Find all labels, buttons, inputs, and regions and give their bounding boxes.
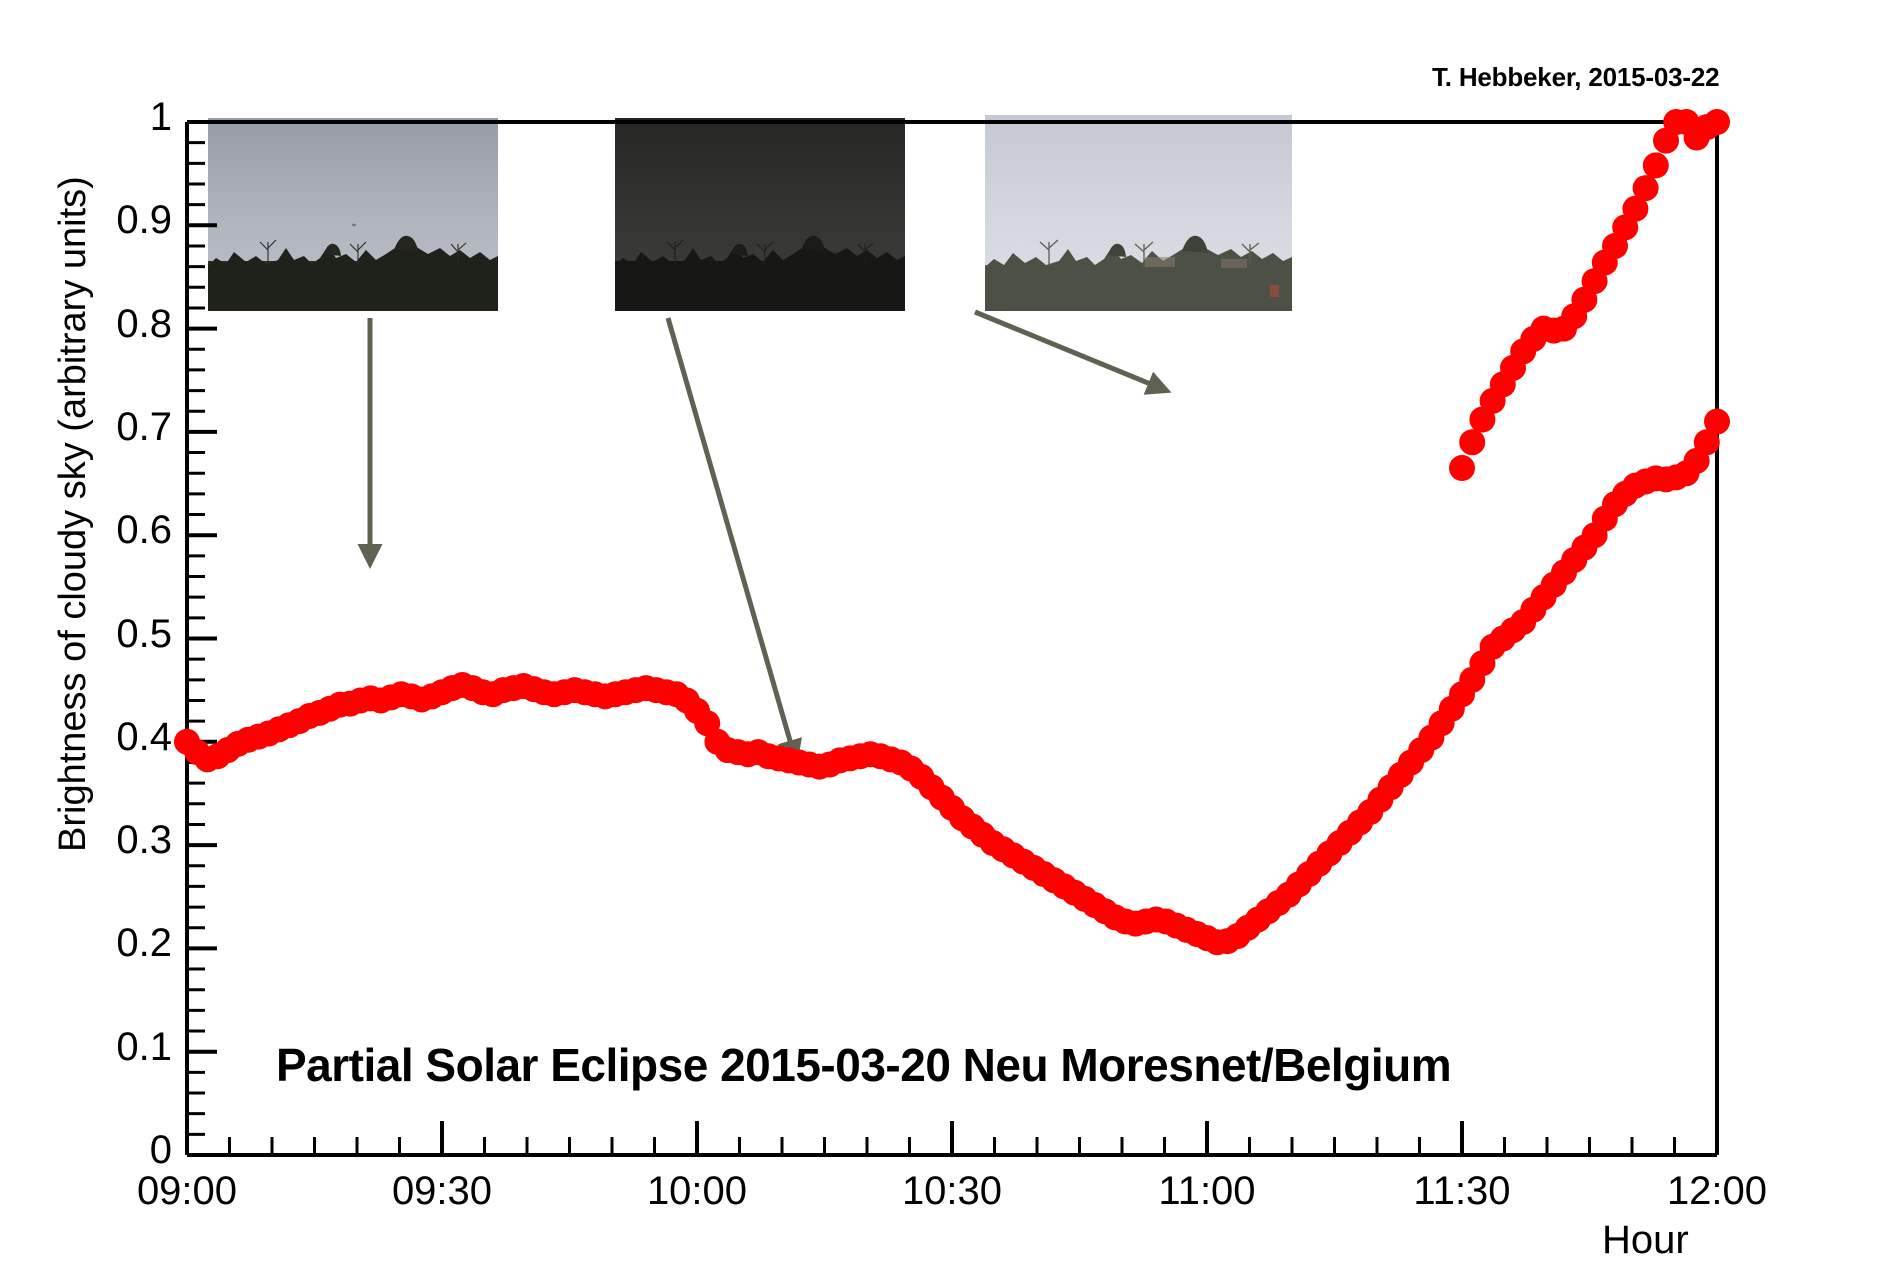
y-tick-label: 0.4 <box>47 715 172 760</box>
data-point <box>1643 152 1669 178</box>
x-axis-ticks <box>187 1121 1717 1155</box>
y-tick-label: 0 <box>47 1128 172 1173</box>
x-tick-label: 11:00 <box>1087 1169 1327 1214</box>
y-tick-label: 1 <box>47 95 172 140</box>
y-tick-label: 0.7 <box>47 405 172 450</box>
x-tick-label: 10:00 <box>577 1169 817 1214</box>
y-tick-label: 0.8 <box>47 302 172 347</box>
y-tick-label: 0.3 <box>47 818 172 863</box>
data-point <box>1704 409 1730 435</box>
y-tick-label: 0.2 <box>47 921 172 966</box>
x-tick-label: 09:00 <box>67 1169 307 1214</box>
data-point <box>1633 175 1659 201</box>
x-tick-label: 10:30 <box>832 1169 1072 1214</box>
data-point <box>1449 455 1475 481</box>
y-axis-ticks <box>187 122 217 1155</box>
x-tick-label: 09:30 <box>322 1169 562 1214</box>
y-tick-label: 0.9 <box>47 198 172 243</box>
y-tick-label: 0.5 <box>47 612 172 657</box>
data-series-brightness <box>174 109 1730 955</box>
x-tick-label: 11:30 <box>1342 1169 1582 1214</box>
data-point <box>1704 109 1730 135</box>
arrow-to-after-eclipse <box>975 312 1165 390</box>
x-axis-title: Hour <box>1602 1218 1689 1263</box>
y-tick-label: 0.6 <box>47 508 172 553</box>
x-tick-label: 12:00 <box>1597 1169 1837 1214</box>
chart-caption: Partial Solar Eclipse 2015-03-20 Neu Mor… <box>276 1038 1451 1092</box>
chart-canvas: T. Hebbeker, 2015-03-22 <box>0 0 1890 1280</box>
data-point <box>1459 429 1485 455</box>
y-tick-label: 0.1 <box>47 1025 172 1070</box>
